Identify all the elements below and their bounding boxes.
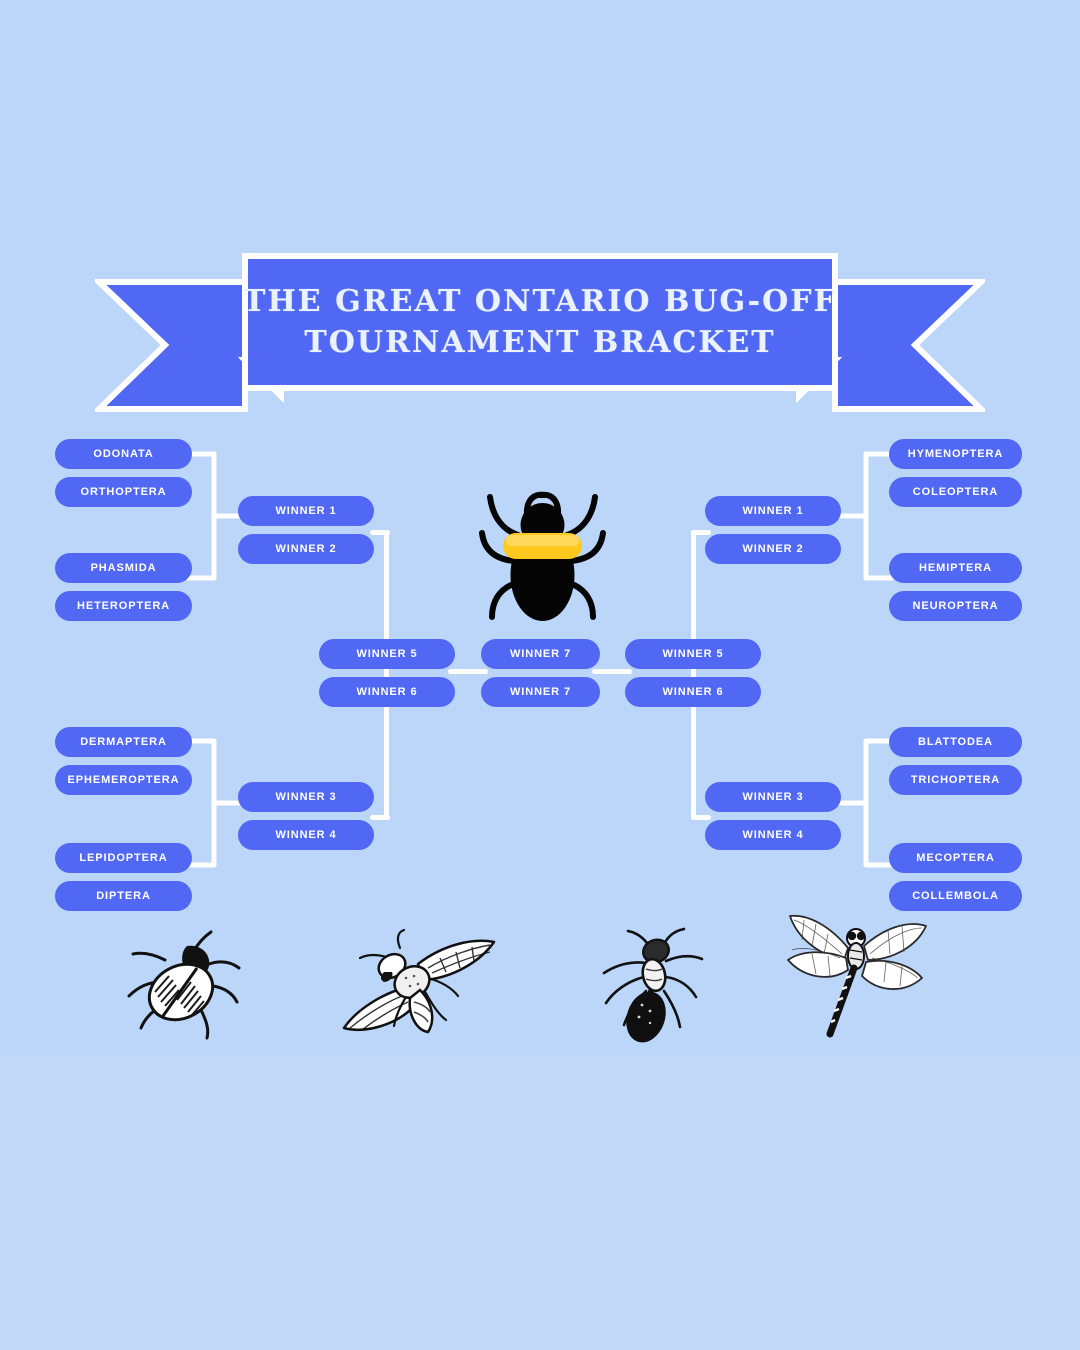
connector-right-spine-top-stub [691, 530, 711, 535]
winner-pill-right-2[interactable]: WINNER 2 [705, 534, 841, 564]
ant-illustration [592, 925, 712, 1043]
winner-pill-left-2[interactable]: WINNER 2 [238, 534, 374, 564]
team-pill-hymenoptera[interactable]: HYMENOPTERA [889, 439, 1022, 469]
team-pill-lepidoptera[interactable]: LEPIDOPTERA [55, 843, 192, 873]
team-pill-diptera[interactable]: DIPTERA [55, 881, 192, 911]
connector-left-q1 [186, 450, 246, 610]
connector-right-spine [691, 530, 696, 820]
team-pill-neuroptera[interactable]: NEUROPTERA [889, 591, 1022, 621]
fly-illustration [340, 928, 500, 1040]
winner-pill-final-top[interactable]: WINNER 7 [481, 639, 600, 669]
winner-pill-right-6[interactable]: WINNER 6 [625, 677, 761, 707]
dragonfly-illustration [782, 908, 932, 1038]
team-pill-dermaptera[interactable]: DERMAPTERA [55, 727, 192, 757]
team-pill-collembola[interactable]: COLLEMBOLA [889, 881, 1022, 911]
winner-pill-left-3[interactable]: WINNER 3 [238, 782, 374, 812]
title-ribbon [95, 248, 985, 413]
connector-right-q1 [834, 450, 894, 610]
winner-pill-right-3[interactable]: WINNER 3 [705, 782, 841, 812]
team-pill-orthoptera[interactable]: ORTHOPTERA [55, 477, 192, 507]
lower-background-band [0, 1056, 1080, 1350]
team-pill-heteroptera[interactable]: HETEROPTERA [55, 591, 192, 621]
team-pill-blattodea[interactable]: BLATTODEA [889, 727, 1022, 757]
beetle-mascot-icon [470, 483, 615, 623]
connector-right-spine-bottom-stub [691, 815, 711, 820]
connector-left-spine-bottom-stub [370, 815, 390, 820]
winner-pill-right-5[interactable]: WINNER 5 [625, 639, 761, 669]
winner-pill-left-5[interactable]: WINNER 5 [319, 639, 455, 669]
winner-pill-left-6[interactable]: WINNER 6 [319, 677, 455, 707]
connector-left-q2 [186, 737, 246, 897]
team-pill-hemiptera[interactable]: HEMIPTERA [889, 553, 1022, 583]
winner-pill-right-1[interactable]: WINNER 1 [705, 496, 841, 526]
team-pill-phasmida[interactable]: PHASMIDA [55, 553, 192, 583]
connector-right-q2 [834, 737, 894, 897]
winner-pill-left-4[interactable]: WINNER 4 [238, 820, 374, 850]
beetle-illustration [125, 930, 245, 1040]
team-pill-coleoptera[interactable]: COLEOPTERA [889, 477, 1022, 507]
winner-pill-left-1[interactable]: WINNER 1 [238, 496, 374, 526]
connector-right-to-final [592, 669, 632, 674]
connector-left-spine-top-stub [370, 530, 390, 535]
winner-pill-right-4[interactable]: WINNER 4 [705, 820, 841, 850]
connector-left-spine [384, 530, 389, 820]
team-pill-odonata[interactable]: ODONATA [55, 439, 192, 469]
connector-left-to-final [448, 669, 488, 674]
team-pill-mecoptera[interactable]: MECOPTERA [889, 843, 1022, 873]
winner-pill-final-bottom[interactable]: WINNER 7 [481, 677, 600, 707]
team-pill-trichoptera[interactable]: TRICHOPTERA [889, 765, 1022, 795]
bracket-page: The Great Ontario Bug-Off Tournament Bra… [0, 0, 1080, 1350]
team-pill-ephemeroptera[interactable]: EPHEMEROPTERA [55, 765, 192, 795]
